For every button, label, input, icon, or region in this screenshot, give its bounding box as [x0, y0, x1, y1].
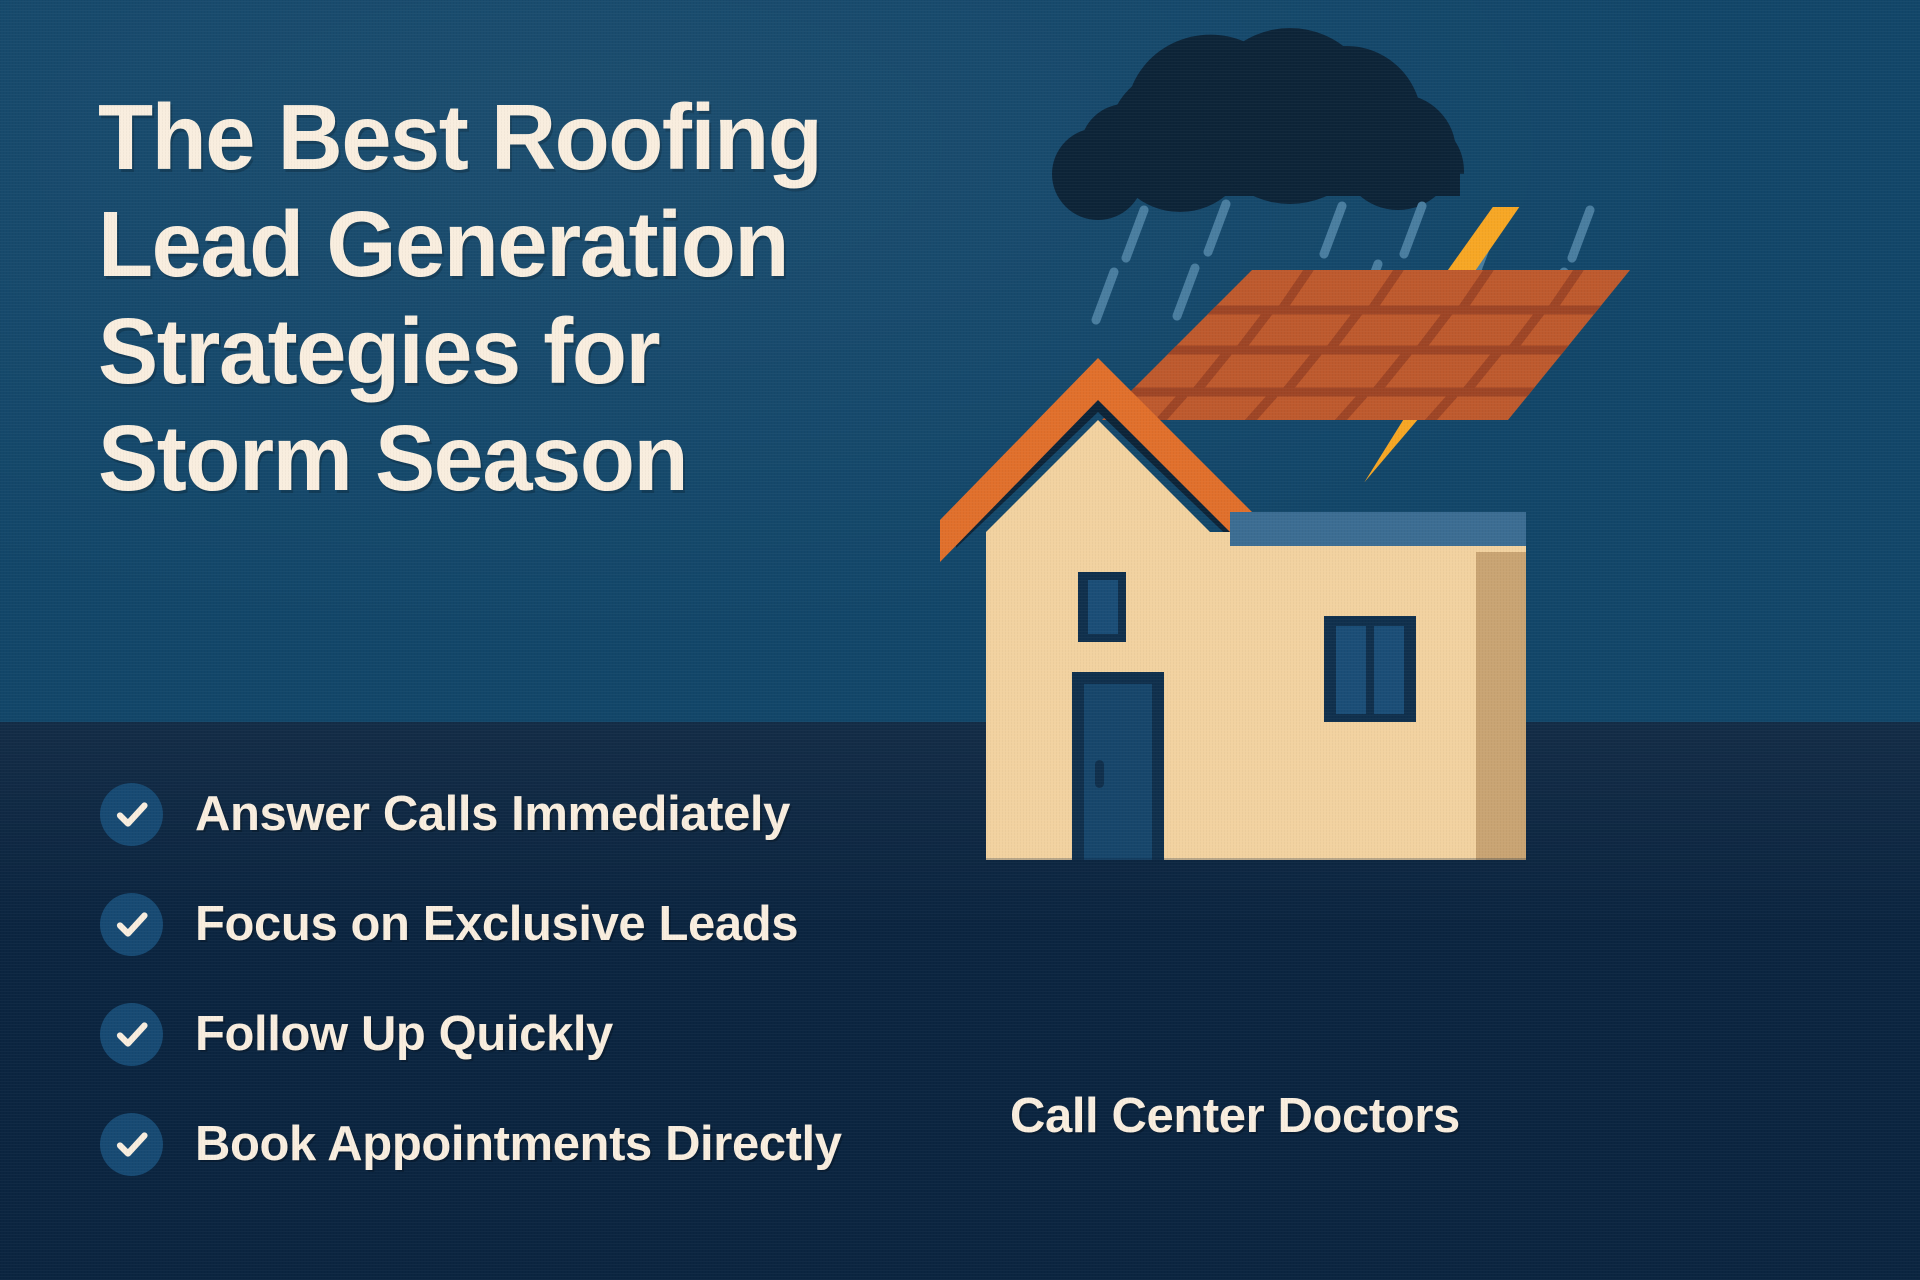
list-item-label: Focus on Exclusive Leads [195, 898, 798, 951]
list-item: Answer Calls Immediately [100, 768, 980, 860]
headline-line-4: Storm Season [98, 405, 1000, 512]
list-item-label: Answer Calls Immediately [195, 788, 790, 841]
storm-cloud-icon [1052, 28, 1464, 220]
headline-line-3: Strategies for [98, 298, 1000, 405]
side-window [1324, 616, 1416, 722]
check-icon [100, 1113, 163, 1176]
headline-line-1: The Best Roofing [98, 84, 1000, 191]
list-item-label: Follow Up Quickly [195, 1008, 613, 1061]
list-item-label: Book Appointments Directly [195, 1118, 842, 1171]
poster-canvas: The Best Roofing Lead Generation Strateg… [0, 0, 1920, 1280]
brand-name: Call Center Doctors [1010, 1088, 1460, 1144]
gable-window [1078, 572, 1126, 642]
headline-line-2: Lead Generation [98, 191, 1000, 298]
list-item: Book Appointments Directly [100, 1098, 980, 1190]
house-roof [1080, 268, 1690, 430]
check-icon [100, 893, 163, 956]
check-icon [100, 1003, 163, 1066]
storm-over-house-illustration [930, 0, 1920, 900]
page-title: The Best Roofing Lead Generation Strateg… [98, 84, 1000, 512]
fascia-strip [1230, 512, 1526, 546]
front-door [1072, 672, 1164, 860]
benefits-checklist: Answer Calls Immediately Focus on Exclus… [100, 768, 980, 1208]
list-item: Follow Up Quickly [100, 988, 980, 1080]
list-item: Focus on Exclusive Leads [100, 878, 980, 970]
check-icon [100, 783, 163, 846]
